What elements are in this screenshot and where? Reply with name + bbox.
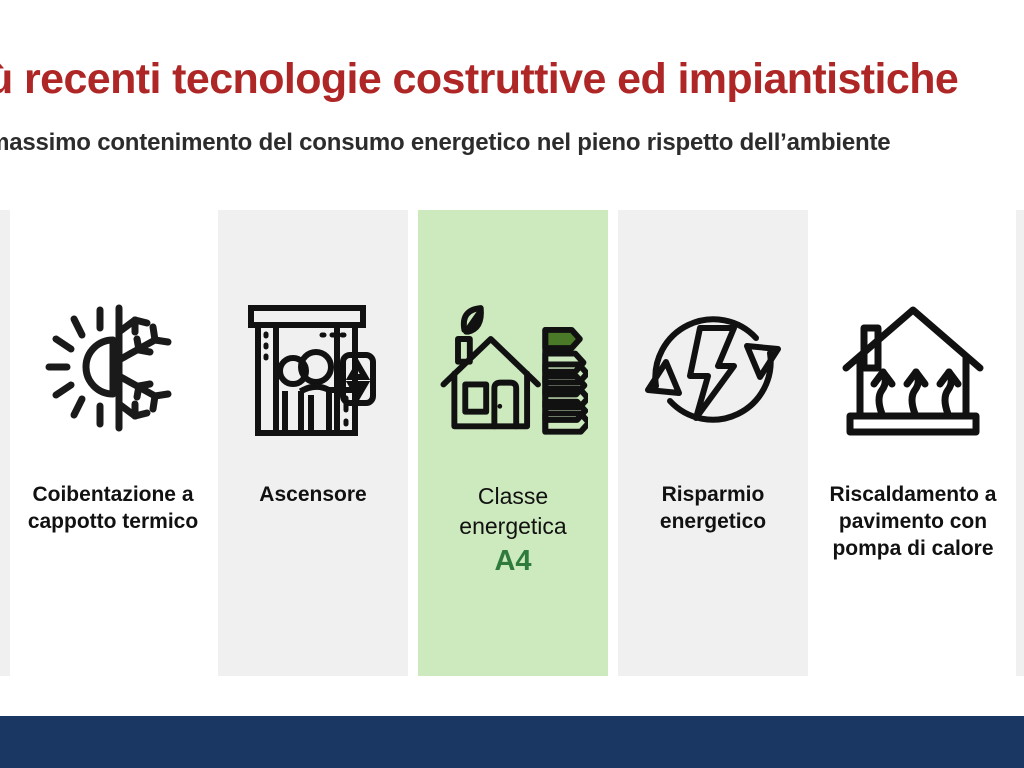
- feature-card-label: Classe energetica: [418, 482, 608, 542]
- sun-snowflake-icon: [38, 298, 188, 440]
- card-edge-right: [1016, 210, 1024, 676]
- heading-block: più recenti tecnologie costruttive ed im…: [0, 0, 1024, 190]
- page-title: più recenti tecnologie costruttive ed im…: [0, 57, 1024, 102]
- feature-card-label: Risparmio energetico: [618, 482, 808, 536]
- feature-card-riscaldamento-pavimento[interactable]: Riscaldamento a pavimento con pompa di c…: [818, 210, 1008, 676]
- elevator-icon: [238, 298, 388, 440]
- underfloor-heating-house-icon: [838, 298, 988, 440]
- footer-bar: [0, 716, 1024, 768]
- energy-class-badge: A4: [418, 544, 608, 579]
- energy-saving-bolt-icon: [638, 298, 788, 440]
- card-edge-left: [0, 210, 10, 676]
- feature-card-coibentazione[interactable]: Coibentazione a cappotto termico: [18, 210, 208, 676]
- feature-card-label: Ascensore: [218, 482, 408, 509]
- feature-card-risparmio-energetico[interactable]: Risparmio energetico: [618, 210, 808, 676]
- feature-card-label: Riscaldamento a pavimento con pompa di c…: [818, 482, 1008, 563]
- feature-cards-strip: Coibentazione a cappotto termico: [0, 210, 1024, 676]
- feature-card-ascensore[interactable]: Ascensore: [218, 210, 408, 676]
- feature-card-label: Coibentazione a cappotto termico: [18, 482, 208, 536]
- energy-class-house-icon: [438, 298, 588, 440]
- feature-card-classe-energetica[interactable]: Classe energetica A4: [418, 210, 608, 676]
- page-subtitle: al massimo contenimento del consumo ener…: [0, 130, 1024, 156]
